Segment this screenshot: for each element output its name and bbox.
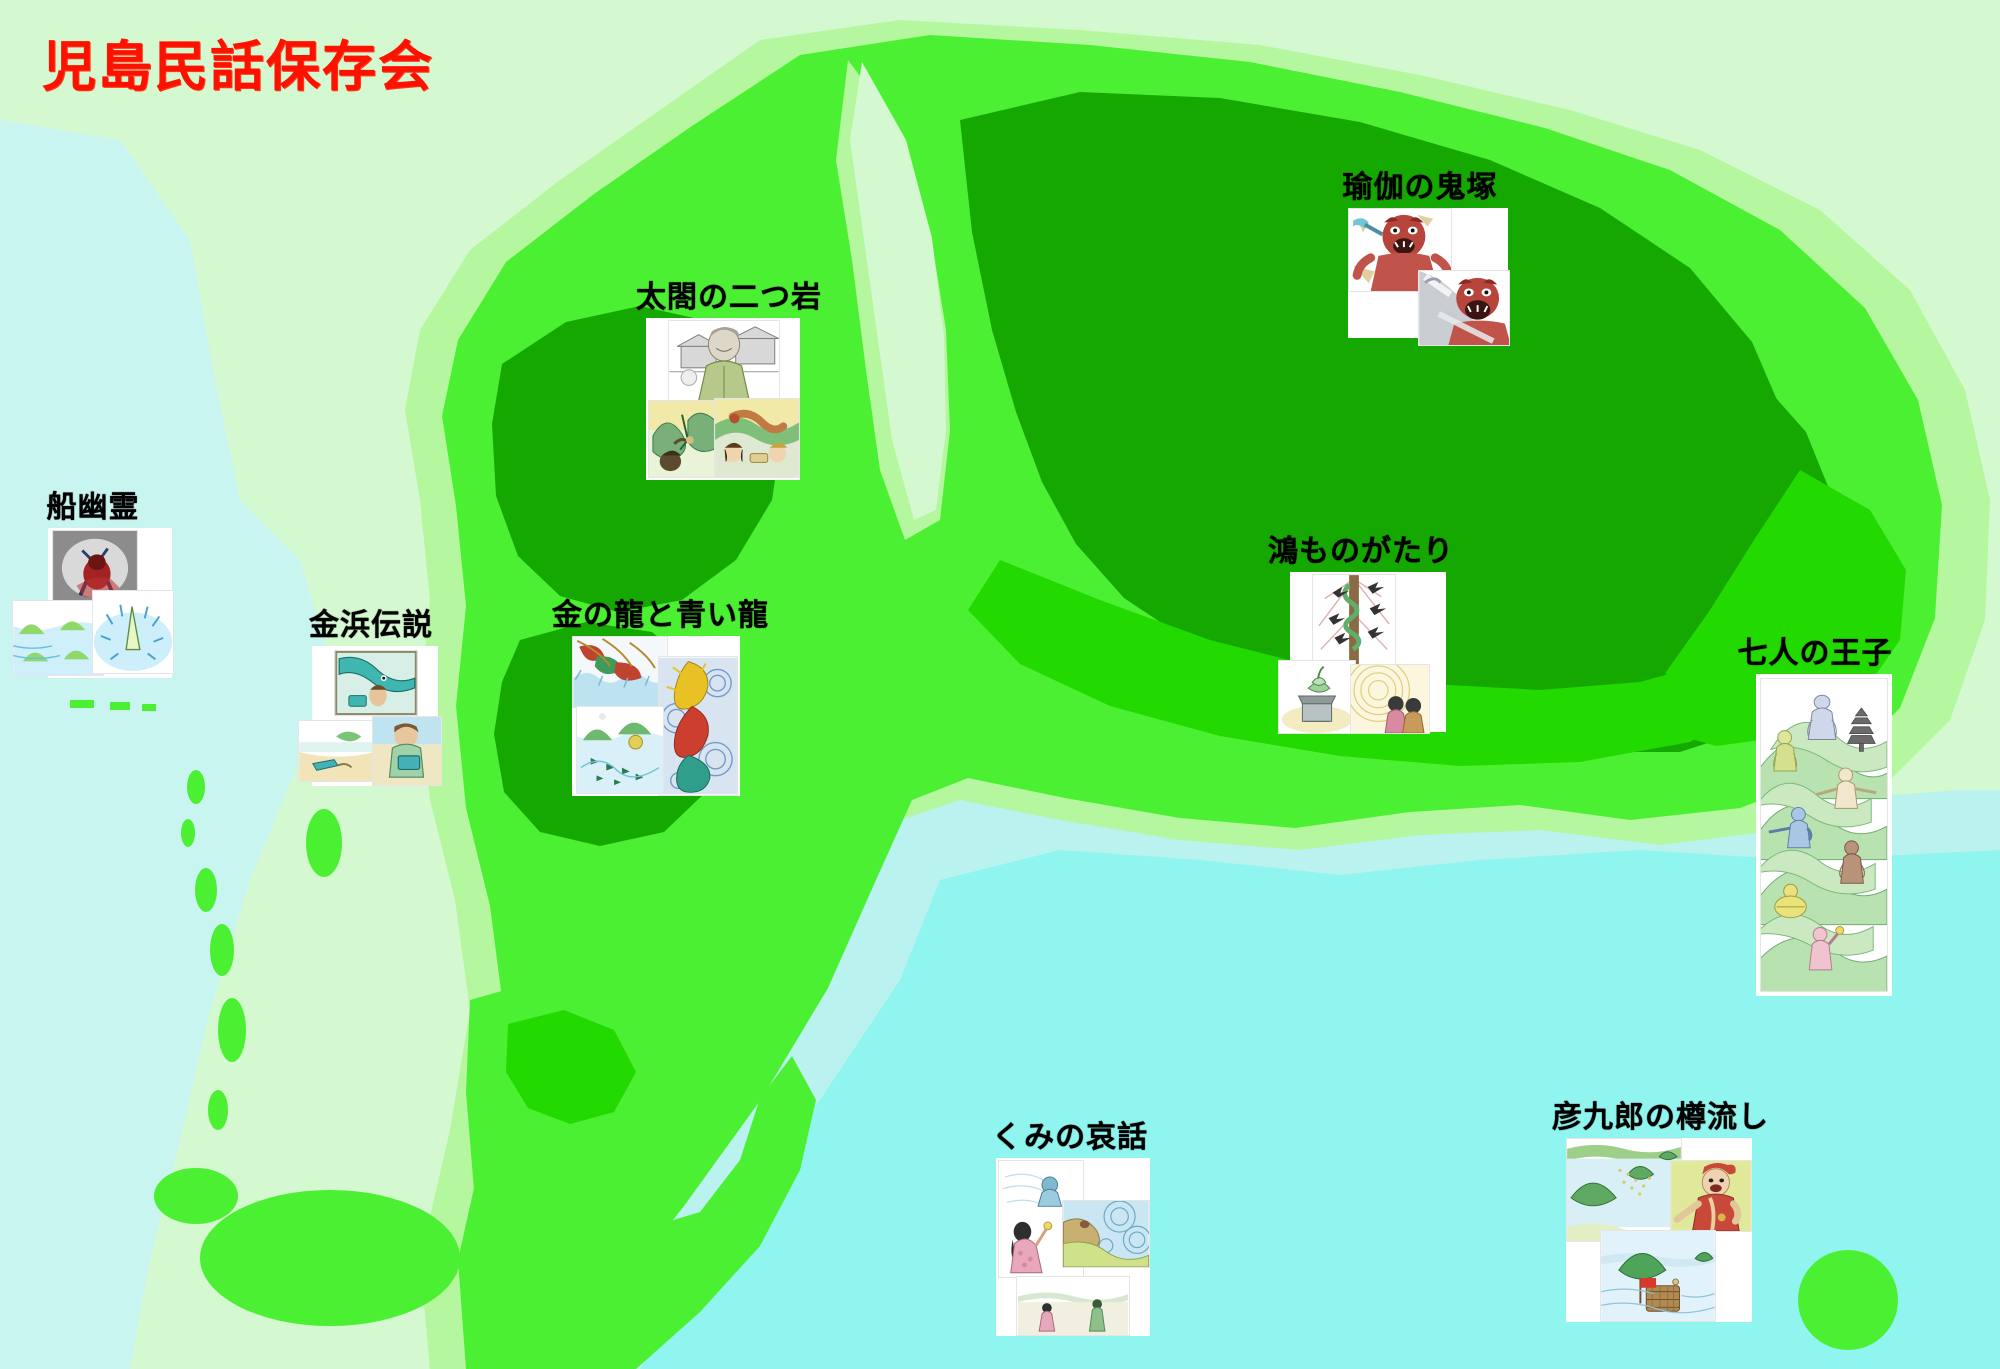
story-marker-funayurei[interactable]: 船幽霊 xyxy=(10,492,176,678)
thumb-oar-splash-in-water[interactable] xyxy=(92,590,174,674)
page-title: 児島民話保存会 xyxy=(42,22,434,101)
thumb-split-rock-and-man[interactable] xyxy=(648,400,720,478)
thumb-two-figures-by-the-shore[interactable] xyxy=(1016,1276,1130,1336)
island-2 xyxy=(187,770,205,804)
island-round-southwest xyxy=(154,1168,238,1224)
story-thumbs-hikokurou[interactable] xyxy=(1552,1138,1760,1324)
thumb-cliff-and-swirling-sea[interactable] xyxy=(1062,1200,1150,1268)
thumb-islands-bay-with-shoal[interactable] xyxy=(1566,1138,1682,1242)
story-label-kinnoryu: 金の龍と青い龍 xyxy=(552,600,769,632)
island-4 xyxy=(195,868,217,912)
story-label-taikou: 太閤の二つ岩 xyxy=(636,282,822,314)
thumb-barrel-raft-with-red-flag[interactable] xyxy=(1600,1230,1716,1322)
story-marker-yugaonizuka[interactable]: 瑜伽の鬼塚 xyxy=(1330,172,1510,348)
story-thumbs-kuminoaiwa[interactable] xyxy=(982,1158,1158,1338)
thumb-red-green-dragon-in-waves[interactable] xyxy=(572,636,668,708)
story-label-kuminoaiwa: くみの哀話 xyxy=(982,1122,1158,1154)
story-marker-kounomonogatari[interactable]: 鴻ものがたり xyxy=(1268,536,1454,736)
thumb-red-oni-roaring[interactable] xyxy=(1418,270,1510,346)
thumb-green-islands-in-sea[interactable] xyxy=(12,600,104,676)
island-1 xyxy=(306,809,342,877)
thumb-rock-carrying-villagers[interactable] xyxy=(714,398,800,478)
thumb-red-robed-man-pointing[interactable] xyxy=(1670,1160,1752,1232)
thumb-shrine-with-white-snake[interactable] xyxy=(1278,660,1356,734)
thumb-two-people-by-golden-light[interactable] xyxy=(1350,664,1430,734)
story-label-shichininnoouji: 七人の王子 xyxy=(1730,638,1900,670)
island-5 xyxy=(210,924,234,976)
story-thumbs-kanahama[interactable] xyxy=(296,646,446,788)
story-marker-hikokurou[interactable]: 彦九郎の樽流し xyxy=(1552,1102,1769,1324)
thumb-blue-dragon-and-boy[interactable] xyxy=(334,650,418,716)
thumb-islands-with-dragon-trail[interactable] xyxy=(576,706,664,794)
island-dash-1 xyxy=(70,700,94,708)
story-marker-kinnoryu[interactable]: 金の龍と青い龍 xyxy=(552,600,769,800)
island-6 xyxy=(218,998,246,1062)
thumb-man-carrying-treasure-box[interactable] xyxy=(372,716,442,786)
thumb-monk-before-castle[interactable] xyxy=(668,320,780,402)
story-thumbs-kounomonogatari[interactable] xyxy=(1268,572,1446,736)
story-label-kounomonogatari: 鴻ものがたり xyxy=(1268,536,1454,568)
thumb-driftwood-on-beach[interactable] xyxy=(298,720,376,782)
story-label-kanahama: 金浜伝説 xyxy=(296,610,446,642)
thumb-golden-dragon-spiral[interactable] xyxy=(658,656,738,796)
island-dash-3 xyxy=(142,704,156,711)
story-label-hikokurou: 彦九郎の樽流し xyxy=(1552,1102,1769,1134)
story-label-funayurei: 船幽霊 xyxy=(10,492,176,524)
island-dash-2 xyxy=(110,702,130,710)
story-thumbs-taikou[interactable] xyxy=(636,318,806,482)
story-thumbs-yugaonizuka[interactable] xyxy=(1330,208,1510,348)
story-label-yugaonizuka: 瑜伽の鬼塚 xyxy=(1330,172,1510,204)
island-round-southeast xyxy=(1798,1250,1898,1350)
story-marker-kanahama[interactable]: 金浜伝説 xyxy=(296,610,446,788)
story-marker-taikou[interactable]: 太閤の二つ岩 xyxy=(636,282,822,482)
map-canvas: 児島民話保存会 船幽霊 金浜伝説 xyxy=(0,0,2000,1369)
story-thumbs-funayurei[interactable] xyxy=(10,528,176,678)
thumb-snake-on-tree-with-birds[interactable] xyxy=(1312,574,1396,670)
story-thumbs-shichininnoouji[interactable] xyxy=(1730,674,1900,998)
island-3 xyxy=(181,819,195,847)
story-thumbs-kinnoryu[interactable] xyxy=(552,636,742,800)
island-7 xyxy=(208,1090,228,1130)
story-marker-kuminoaiwa[interactable]: くみの哀話 xyxy=(982,1122,1158,1338)
thumb-seven-princes-on-green-hills[interactable] xyxy=(1760,678,1888,992)
island-large-southwest xyxy=(200,1190,460,1326)
story-marker-shichininnoouji[interactable]: 七人の王子 xyxy=(1730,638,1900,998)
